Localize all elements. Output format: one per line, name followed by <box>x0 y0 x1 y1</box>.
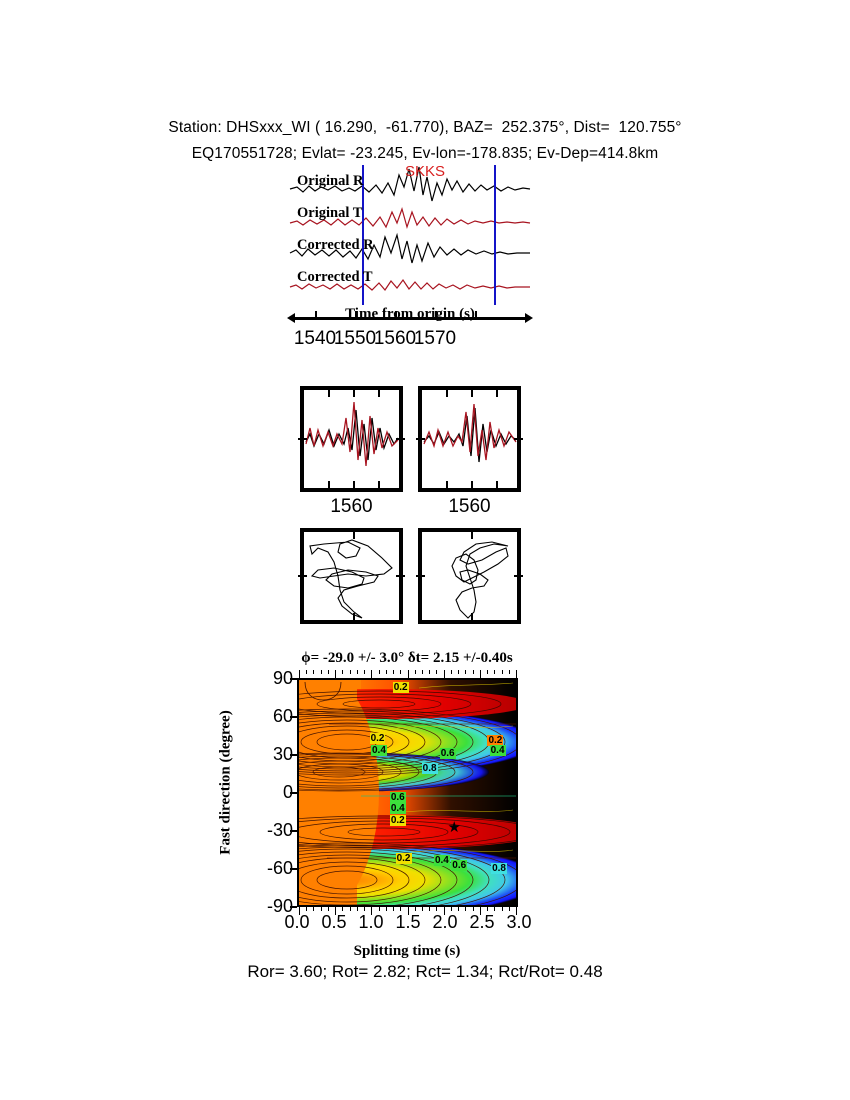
trace-label-original-r: Original R <box>297 173 363 190</box>
contour-label: 0.6 <box>440 748 456 759</box>
waveform-box-label-original: 1560 <box>300 496 403 518</box>
particle-motion-box-original <box>300 528 403 624</box>
x-tick-mark <box>386 907 387 911</box>
box-center-mark <box>416 575 425 577</box>
waveform-box-label-corrected: 1560 <box>418 496 521 518</box>
x-tick-mark <box>313 907 314 911</box>
y-tick-label: -30 <box>237 820 293 841</box>
x-tick-mark <box>429 670 430 674</box>
splitting-parameters-title: ϕ= -29.0 +/- 3.0° δt= 2.15 +/-0.40s <box>157 650 657 667</box>
x-tick-mark <box>350 670 351 674</box>
box-tick <box>471 532 473 539</box>
x-tick-mark <box>465 907 466 911</box>
y-tick-mark <box>290 754 297 756</box>
x-tick-mark <box>393 670 394 674</box>
contour-label: 0.4 <box>390 803 406 814</box>
window-marker-end <box>494 165 496 305</box>
x-tick-mark <box>321 670 322 674</box>
x-tick-mark <box>480 907 481 915</box>
error-surface-plot: ϕ= -29.0 +/- 3.0° δt= 2.15 +/-0.40s Fast… <box>297 678 518 907</box>
x-tick-mark <box>473 907 474 911</box>
waveform-trace-stack: SKKS Original R Original T Corrected R C… <box>285 165 535 305</box>
contour-label: 0.6 <box>390 792 406 803</box>
x-tick-mark <box>393 907 394 911</box>
y-tick-mark <box>290 830 297 832</box>
quality-metrics-footer: Ror= 3.60; Rot= 2.82; Rct= 1.34; Rct/Rot… <box>0 962 850 982</box>
x-tick-mark <box>328 907 329 911</box>
contour-label: 0.2 <box>370 733 386 744</box>
x-tick-mark <box>444 670 445 678</box>
y-tick-label: 60 <box>237 706 293 727</box>
x-tick-mark <box>487 907 488 911</box>
contour-label: 0.6 <box>451 860 467 871</box>
y-tick-mark <box>290 906 297 908</box>
x-tick-mark <box>451 907 452 911</box>
box-center-mark <box>396 438 405 440</box>
contour-label: 0.4 <box>371 745 387 756</box>
box-tick <box>353 532 355 539</box>
x-tick-mark <box>415 670 416 674</box>
fast-slow-waveform-box-corrected <box>418 386 521 492</box>
x-tick-mark <box>465 670 466 674</box>
x-tick-mark <box>502 907 503 911</box>
contour-label: 0.8 <box>491 863 507 874</box>
contour-label: 0.4 <box>434 855 450 866</box>
x-tick-mark <box>328 670 329 674</box>
contour-label: 0.4 <box>490 745 506 756</box>
trace-label-original-t: Original T <box>297 205 362 222</box>
y-axis-label: Fast direction (degree) <box>218 668 235 898</box>
x-tick-mark <box>422 907 423 911</box>
x-tick-mark <box>516 907 517 915</box>
x-axis-label: Splitting time (s) <box>257 943 557 960</box>
x-tick-mark <box>357 907 358 911</box>
box-center-mark <box>416 438 425 440</box>
x-tick-mark <box>429 907 430 911</box>
contour-label: 0.8 <box>422 763 438 774</box>
box-center-mark <box>514 575 523 577</box>
contour-surface-svg <box>299 680 516 905</box>
x-tick-mark <box>436 670 437 674</box>
splitting-diagnostic-page: Station: DHSxxx_WI ( 16.290, -61.770), B… <box>0 0 850 1100</box>
trace-label-corrected-t: Corrected T <box>297 269 373 286</box>
y-tick-mark <box>290 868 297 870</box>
x-tick-mark <box>364 670 365 674</box>
x-tick-mark <box>371 670 372 678</box>
x-tick-mark <box>408 907 409 915</box>
trace-label-corrected-r: Corrected R <box>297 237 374 254</box>
x-tick-mark <box>371 907 372 915</box>
x-tick-mark <box>400 670 401 674</box>
box-center-mark <box>514 438 523 440</box>
x-tick-mark <box>436 907 437 911</box>
event-info-line: EQ170551728; Evlat= -23.245, Ev-lon=-178… <box>0 145 850 163</box>
x-tick-mark <box>350 907 351 911</box>
x-tick-mark <box>342 907 343 911</box>
x-tick-mark <box>516 670 517 678</box>
y-tick-mark <box>290 792 297 794</box>
fast-slow-waveform-box-original <box>300 386 403 492</box>
time-axis-title: Time from origin (s) <box>285 306 535 323</box>
x-tick-mark <box>494 670 495 674</box>
x-tick-mark <box>487 670 488 674</box>
x-tick-mark <box>444 907 445 915</box>
y-tick-label: 30 <box>237 744 293 765</box>
error-surface-canvas: 0.20.20.40.60.20.40.80.60.40.20.20.40.60… <box>297 678 518 907</box>
x-tick-mark <box>379 670 380 674</box>
x-tick-mark <box>509 907 510 911</box>
x-tick-mark <box>386 670 387 674</box>
x-tick-mark <box>408 670 409 678</box>
x-tick-mark <box>494 907 495 911</box>
x-tick-mark <box>306 907 307 911</box>
x-tick-mark <box>415 907 416 911</box>
particle-motion-box-corrected <box>418 528 521 624</box>
box-tick <box>353 613 355 620</box>
x-tick-mark <box>502 670 503 674</box>
x-tick-mark <box>379 907 380 911</box>
y-tick-mark <box>290 716 297 718</box>
contour-label: 0.2 <box>393 682 409 693</box>
fast-slow-traces-original <box>304 390 399 488</box>
y-tick-label: -60 <box>237 858 293 879</box>
particle-motion-path-original <box>304 532 399 620</box>
station-info-line: Station: DHSxxx_WI ( 16.290, -61.770), B… <box>0 119 850 137</box>
time-tick-label: 1570 <box>412 328 458 350</box>
x-tick-mark <box>313 670 314 674</box>
x-tick-mark <box>458 907 459 911</box>
x-tick-mark <box>400 907 401 911</box>
box-center-mark <box>396 575 405 577</box>
contour-label: 0.2 <box>390 815 406 826</box>
box-center-mark <box>298 575 307 577</box>
x-tick-mark <box>480 670 481 678</box>
x-tick-mark <box>299 670 300 678</box>
box-center-mark <box>298 438 307 440</box>
x-tick-mark <box>342 670 343 674</box>
x-tick-mark <box>335 907 336 915</box>
x-tick-mark <box>299 907 300 915</box>
x-tick-label: 3.0 <box>497 912 541 933</box>
time-axis: Time from origin (s) 1540 1550 1560 1570 <box>285 300 535 360</box>
x-tick-mark <box>364 907 365 911</box>
y-tick-label: 0 <box>237 782 293 803</box>
x-tick-mark <box>335 670 336 678</box>
y-tick-mark <box>290 678 297 680</box>
particle-motion-path-corrected <box>422 532 517 620</box>
y-tick-label: 90 <box>237 668 293 689</box>
x-tick-mark <box>306 670 307 674</box>
x-tick-mark <box>357 670 358 674</box>
x-tick-mark <box>458 670 459 674</box>
box-tick <box>471 613 473 620</box>
skks-phase-label: SKKS <box>405 163 445 180</box>
x-tick-mark <box>473 670 474 674</box>
x-tick-mark <box>321 907 322 911</box>
x-tick-mark <box>509 670 510 674</box>
x-tick-mark <box>451 670 452 674</box>
x-tick-mark <box>422 670 423 674</box>
contour-label: 0.2 <box>396 853 412 864</box>
fast-slow-traces-corrected <box>422 390 517 488</box>
best-fit-star-marker: ★ <box>448 820 461 835</box>
